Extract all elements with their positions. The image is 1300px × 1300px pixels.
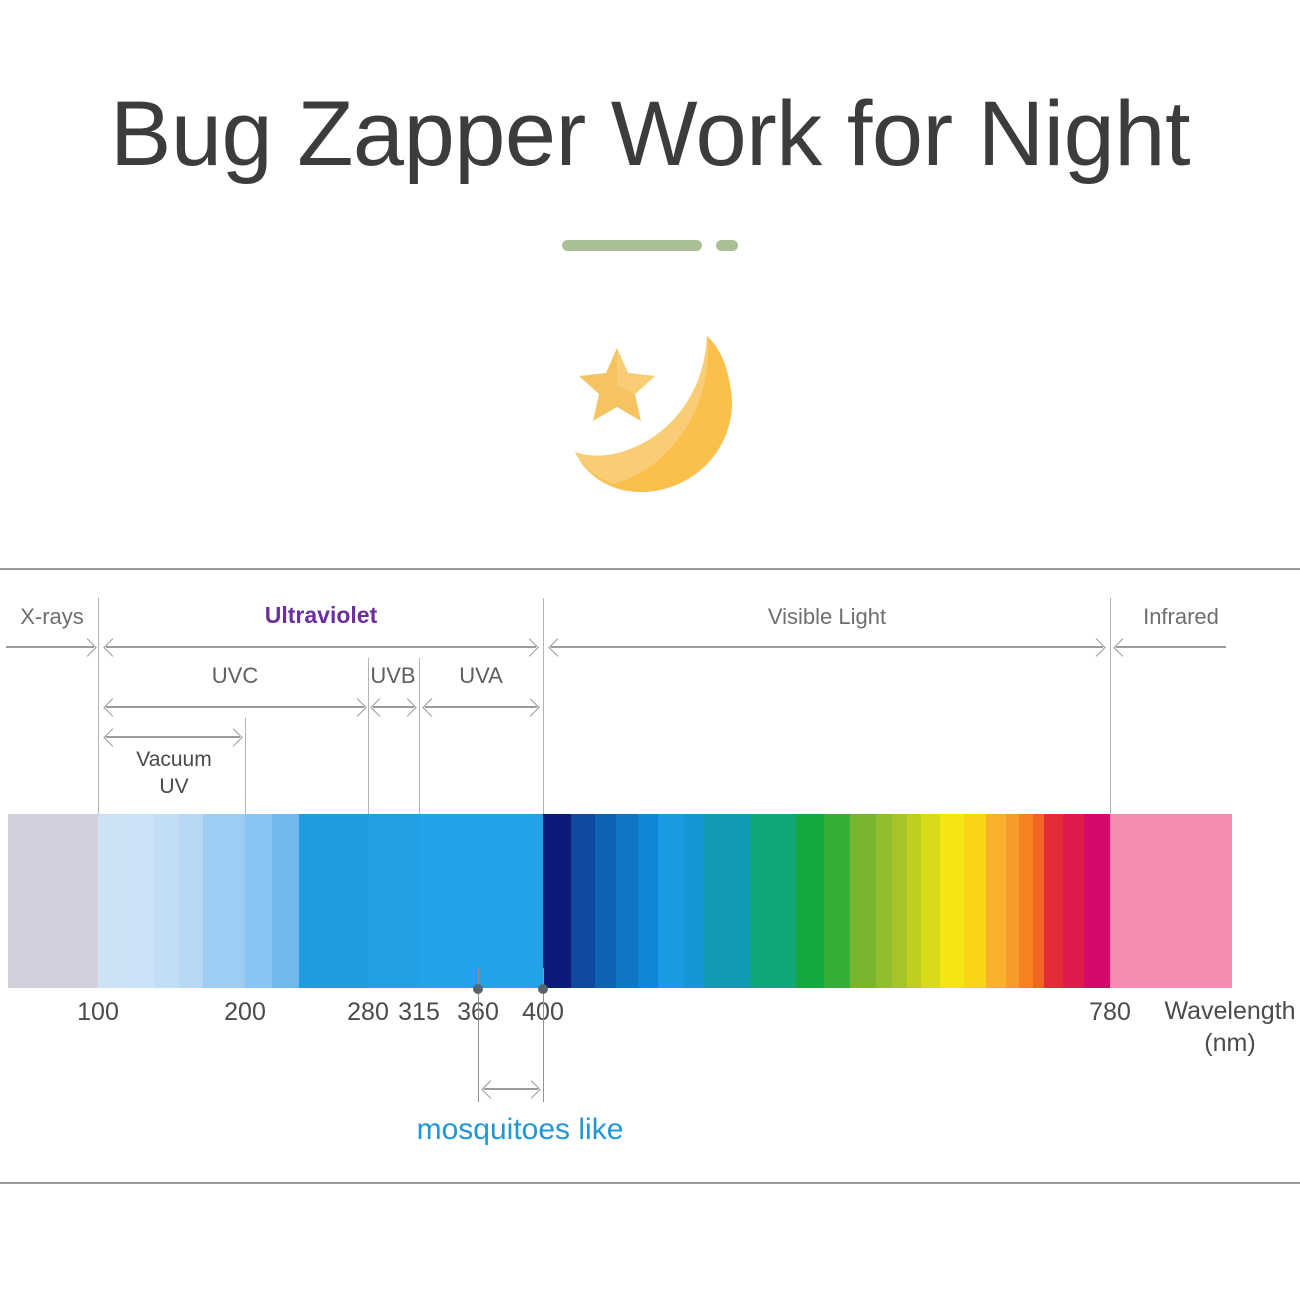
region-label-ultraviolet: Ultraviolet — [104, 602, 538, 629]
annotation-arrow-mosquitoes — [484, 1088, 538, 1090]
region-label-infrared: Infrared — [1116, 604, 1246, 630]
axis-title-line1: Wavelength — [1155, 995, 1300, 1027]
spectrum-band-uv-3 — [154, 814, 179, 988]
spectrum-band-vis-15 — [638, 814, 658, 988]
subregion-label-uvc: UVC — [104, 663, 366, 689]
vacuum-uv-line2: UV — [104, 773, 244, 800]
divider-dash-long-icon — [562, 240, 702, 251]
arrow-head-right-icon — [520, 638, 538, 656]
spectrum-band-vis-12 — [571, 814, 595, 988]
annotation-label-mosquitoes-like: mosquitoes like — [0, 1113, 1040, 1147]
tick-label-200: 200 — [224, 998, 266, 1027]
spectrum-band-uv-10 — [419, 814, 543, 988]
arrow-head-left-icon — [548, 638, 566, 656]
subregion-arrow-uva — [425, 706, 537, 708]
spectrum-band-vis-16 — [658, 814, 684, 988]
vline-100nm — [98, 598, 99, 814]
region-label-xrays: X-rays — [8, 604, 96, 630]
arrow-head-right-icon — [398, 698, 416, 716]
spectrum-band-uv-4 — [179, 814, 203, 988]
spectrum-band-uv-2 — [129, 814, 154, 988]
spectrum-band-vis-30 — [1006, 814, 1019, 988]
arrow-head-right-icon — [522, 1080, 540, 1098]
spectrum-band-vis-35 — [1084, 814, 1110, 988]
crescent-moon-with-star-icon — [555, 310, 745, 495]
annotation-dot-400 — [538, 984, 548, 994]
region-label-visible-light: Visible Light — [549, 604, 1105, 630]
spectrum-band-vis-25 — [907, 814, 921, 988]
spectrum-band-vis-31 — [1019, 814, 1033, 988]
arrow-head-right-icon — [224, 728, 242, 746]
arrow-head-left-icon — [1113, 638, 1131, 656]
subsubregion-label-vacuum-uv: Vacuum UV — [104, 746, 244, 800]
page-title: Bug Zapper Work for Night — [0, 82, 1300, 186]
region-arrow-visible-light — [551, 646, 1103, 648]
spectrum-band-vis-21 — [824, 814, 850, 988]
arrow-line — [106, 736, 240, 738]
spectrum-band-ir-36 — [1110, 814, 1232, 988]
subregion-arrow-uvb — [373, 706, 414, 708]
spectrum-band-vis-13 — [595, 814, 616, 988]
spectrum-band-vis-17 — [684, 814, 704, 988]
spectrum-band-uv-9 — [368, 814, 419, 988]
spectrum-band-vis-18 — [704, 814, 750, 988]
arrow-line — [106, 706, 364, 708]
arrow-head-left-icon — [370, 698, 388, 716]
spectrum-band-vis-19 — [750, 814, 796, 988]
subregion-label-uvb: UVB — [362, 663, 424, 689]
vline-200nm — [245, 718, 246, 814]
axis-title-line2: (nm) — [1155, 1027, 1300, 1059]
arrow-head-right-icon — [1087, 638, 1105, 656]
arrow-head-left-icon — [103, 728, 121, 746]
arrow-head-right-icon — [348, 698, 366, 716]
spectrum-band-vis-23 — [876, 814, 892, 988]
arrow-head-right-icon — [521, 698, 539, 716]
spectrum-figure-inner: X-rays Ultraviolet Visible Light Infrare… — [0, 570, 1300, 1184]
spectrum-band-vis-24 — [892, 814, 907, 988]
region-arrow-xrays — [6, 646, 94, 648]
spectrum-band-vis-14 — [616, 814, 638, 988]
annotation-dot-360 — [473, 984, 483, 994]
spectrum-band-vis-26 — [921, 814, 940, 988]
spectrum-band-vis-34 — [1063, 814, 1084, 988]
spectrum-band-uv-6 — [245, 814, 272, 988]
vline-400nm — [543, 598, 544, 814]
spectrum-band-vis-22 — [850, 814, 876, 988]
spectrum-band-vis-29 — [986, 814, 1006, 988]
title-divider — [0, 238, 1300, 252]
subsubregion-arrow-vacuum-uv — [106, 736, 240, 738]
spectrum-band-vis-32 — [1033, 814, 1044, 988]
spectrum-band-uv-1 — [98, 814, 129, 988]
tick-label-780: 780 — [1089, 998, 1131, 1027]
arrow-head-left-icon — [103, 698, 121, 716]
spectrum-band-vis-28 — [964, 814, 986, 988]
header-section: Bug Zapper Work for Night — [0, 0, 1300, 545]
spectrum-band-vis-33 — [1044, 814, 1063, 988]
tick-label-280: 280 — [347, 998, 389, 1027]
spectrum-band-x-ray-0 — [8, 814, 98, 988]
vacuum-uv-line1: Vacuum — [104, 746, 244, 773]
arrow-head-right-icon — [78, 638, 96, 656]
arrow-line — [106, 646, 536, 648]
tick-label-315: 315 — [398, 998, 440, 1027]
spectrum-color-bar — [8, 814, 1232, 988]
vline-780nm — [1110, 598, 1111, 814]
arrow-head-left-icon — [422, 698, 440, 716]
tick-label-100: 100 — [77, 998, 119, 1027]
spectrum-figure: X-rays Ultraviolet Visible Light Infrare… — [0, 568, 1300, 1184]
spectrum-band-vis-11 — [543, 814, 571, 988]
region-arrow-infrared — [1116, 646, 1226, 648]
spectrum-band-uv-7 — [272, 814, 299, 988]
spectrum-band-uv-8 — [299, 814, 368, 988]
divider-dash-short-icon — [716, 240, 738, 251]
subregion-arrow-uvc — [106, 706, 364, 708]
spectrum-band-vis-20 — [796, 814, 824, 988]
region-arrow-ultraviolet — [106, 646, 536, 648]
arrow-line — [551, 646, 1103, 648]
spectrum-band-vis-27 — [940, 814, 964, 988]
arrow-line — [1116, 646, 1226, 648]
arrow-head-left-icon — [103, 638, 121, 656]
hero-icon-container — [0, 305, 1300, 500]
axis-title-wavelength: Wavelength (nm) — [1155, 995, 1300, 1059]
arrow-head-left-icon — [481, 1080, 499, 1098]
spectrum-band-uv-5 — [203, 814, 245, 988]
subregion-label-uva: UVA — [425, 663, 537, 689]
